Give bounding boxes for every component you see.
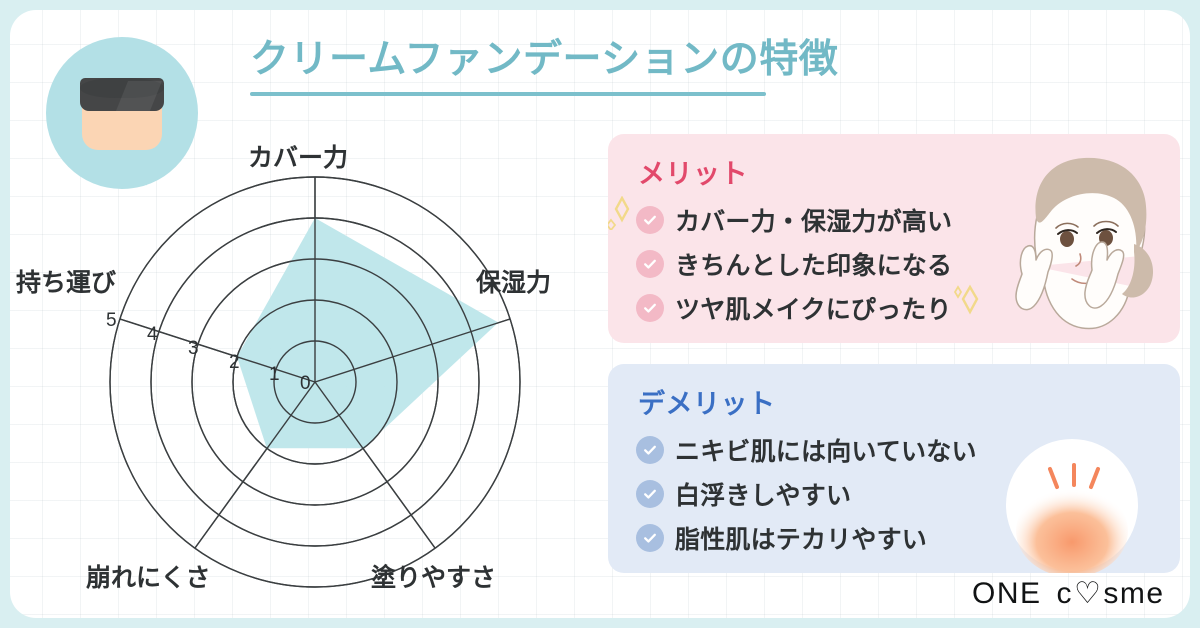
demerit-item-text: ニキビ肌には向いていない <box>675 432 977 468</box>
radar-axis-label-moisture: 保湿力 <box>476 263 551 299</box>
infographic-frame: クリームファンデーションの特徴 <box>0 0 1200 628</box>
page-title: クリームファンデーションの特徴 <box>250 38 770 83</box>
merit-item-text: カバー力・保湿力が高い <box>675 202 952 238</box>
sparkle-icon <box>608 196 636 230</box>
radar-axis-label-apply: 塗りやすさ <box>371 558 496 594</box>
demerit-item-text: 脂性肌はテカリやすい <box>675 520 927 556</box>
radar-chart-svg <box>66 130 596 600</box>
logo-word-cosme-post: sme <box>1103 577 1164 611</box>
demerit-list: ニキビ肌には向いていない 白浮きしやすい 脂性肌はテカリやすい <box>636 428 977 560</box>
sparkle-icon-2 <box>952 284 986 318</box>
list-item: ニキビ肌には向いていない <box>636 428 977 472</box>
radar-axis-label-cover: カバー力 <box>248 138 348 174</box>
brand-logo: ONE c ♡ sme <box>972 576 1165 611</box>
check-icon <box>636 436 664 464</box>
content-card: クリームファンデーションの特徴 <box>10 10 1190 618</box>
check-icon <box>636 206 664 234</box>
list-item: ツヤ肌メイクにぴったり <box>636 286 952 330</box>
demerit-item-text: 白浮きしやすい <box>675 476 851 512</box>
radar-chart: カバー力 保湿力 塗りやすさ 崩れにくさ 持ち運び 0 1 2 3 4 5 <box>66 130 596 600</box>
radar-tick-4: 4 <box>147 324 158 346</box>
check-icon <box>636 250 664 278</box>
radar-data-area <box>237 218 498 448</box>
title-underline <box>250 92 766 96</box>
radar-tick-3: 3 <box>188 338 199 360</box>
logo-word-one: ONE <box>972 577 1042 611</box>
radar-axis-label-durability: 崩れにくさ <box>86 558 211 594</box>
merit-panel: メリット カバー力・保湿力が高い きちんとした印象になる <box>608 134 1180 343</box>
page-title-block: クリームファンデーションの特徴 <box>250 38 770 96</box>
radar-tick-2: 2 <box>229 352 240 374</box>
merit-list: カバー力・保湿力が高い きちんとした印象になる ツヤ肌メイクにぴったり <box>636 198 952 330</box>
demerit-panel: デメリット ニキビ肌には向いていない 白浮きしやすい <box>608 364 1180 573</box>
check-icon <box>636 294 664 322</box>
merit-heading: メリット <box>638 152 748 191</box>
check-icon <box>636 480 664 508</box>
list-item: 白浮きしやすい <box>636 472 977 516</box>
radar-tick-1: 1 <box>269 364 280 386</box>
jar-lid <box>80 78 164 111</box>
merit-item-text: ツヤ肌メイクにぴったり <box>675 290 952 326</box>
list-item: カバー力・保湿力が高い <box>636 198 952 242</box>
check-icon <box>636 524 664 552</box>
logo-word-cosme-pre: c <box>1057 577 1074 611</box>
demerit-heading: デメリット <box>638 382 776 421</box>
merit-item-text: きちんとした印象になる <box>675 246 952 282</box>
shiny-skin-illustration <box>1006 435 1138 573</box>
radar-tick-5: 5 <box>106 310 117 332</box>
list-item: 脂性肌はテカリやすい <box>636 516 977 560</box>
radar-tick-0: 0 <box>300 373 311 395</box>
woman-touching-face-illustration <box>996 140 1174 338</box>
heart-icon: ♡ <box>1074 576 1102 611</box>
list-item: きちんとした印象になる <box>636 242 952 286</box>
radar-axis-label-portability: 持ち運び <box>16 263 116 299</box>
